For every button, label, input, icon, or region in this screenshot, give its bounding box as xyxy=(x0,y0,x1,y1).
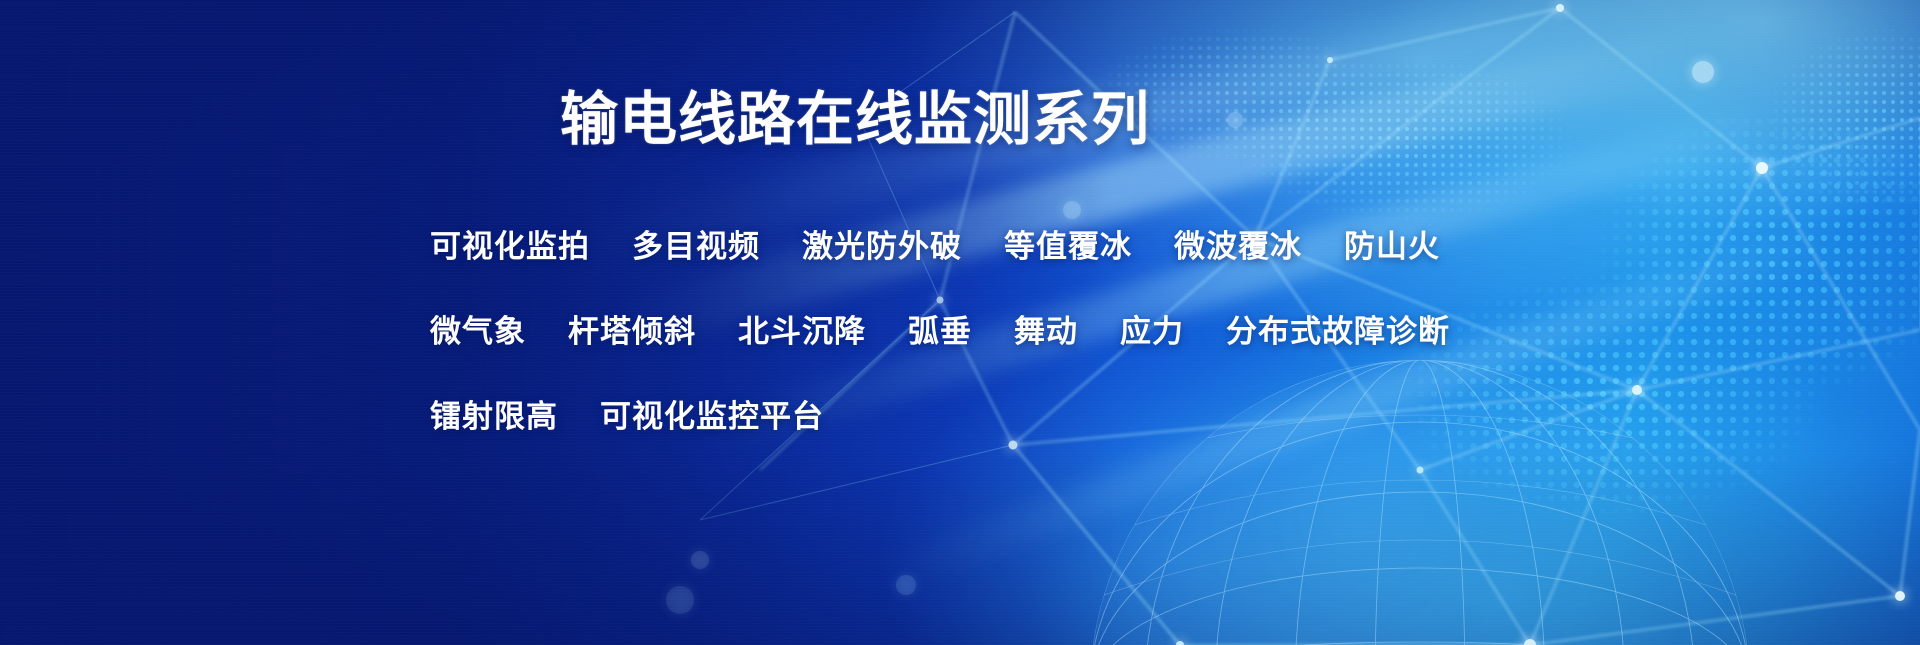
tag-item[interactable]: 多目视频 xyxy=(632,232,760,263)
tag-item[interactable]: 微气象 xyxy=(430,317,526,348)
tag-row-3: 镭射限高 可视化监控平台 xyxy=(430,375,1530,460)
product-tag-list: 可视化监拍 多目视频 激光防外破 等值覆冰 微波覆冰 防山火 微气象 杆塔倾斜 … xyxy=(430,205,1530,460)
banner-hero: 输电线路在线监测系列 可视化监拍 多目视频 激光防外破 等值覆冰 微波覆冰 防山… xyxy=(0,0,1920,645)
tag-item[interactable]: 可视化监拍 xyxy=(430,232,590,263)
tag-item[interactable]: 激光防外破 xyxy=(802,232,962,263)
page-title: 输电线路在线监测系列 xyxy=(560,86,1150,153)
tag-item[interactable]: 等值覆冰 xyxy=(1004,232,1132,263)
tag-item[interactable]: 舞动 xyxy=(1014,317,1078,348)
tag-item[interactable]: 北斗沉降 xyxy=(738,317,866,348)
tag-item[interactable]: 可视化监控平台 xyxy=(600,402,824,433)
tag-item[interactable]: 应力 xyxy=(1120,317,1184,348)
tag-item[interactable]: 杆塔倾斜 xyxy=(568,317,696,348)
tag-item[interactable]: 分布式故障诊断 xyxy=(1226,317,1450,348)
tag-item[interactable]: 弧垂 xyxy=(908,317,972,348)
tag-item[interactable]: 微波覆冰 xyxy=(1174,232,1302,263)
tag-item[interactable]: 镭射限高 xyxy=(430,402,558,433)
tag-row-1: 可视化监拍 多目视频 激光防外破 等值覆冰 微波覆冰 防山火 xyxy=(430,205,1530,290)
tag-item[interactable]: 防山火 xyxy=(1344,232,1440,263)
tag-row-2: 微气象 杆塔倾斜 北斗沉降 弧垂 舞动 应力 分布式故障诊断 xyxy=(430,290,1530,375)
banner-content: 输电线路在线监测系列 可视化监拍 多目视频 激光防外破 等值覆冰 微波覆冰 防山… xyxy=(0,0,1920,645)
